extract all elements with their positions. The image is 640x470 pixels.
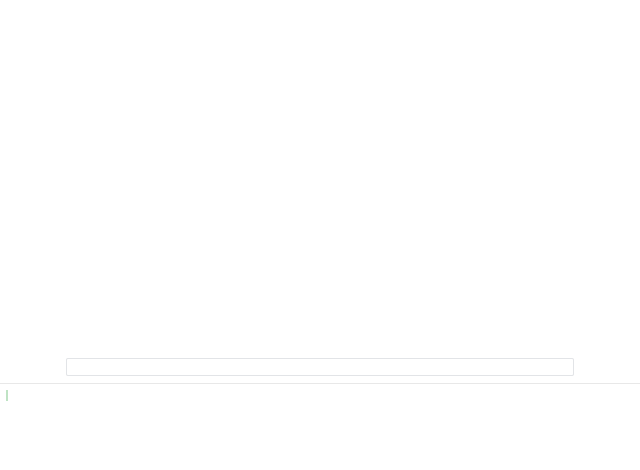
figure-caption [6,389,634,403]
caption-divider [0,383,640,384]
chart-legend [66,358,574,376]
figure-number [6,390,8,401]
panel-grid [0,0,640,352]
figure-container [0,0,640,385]
